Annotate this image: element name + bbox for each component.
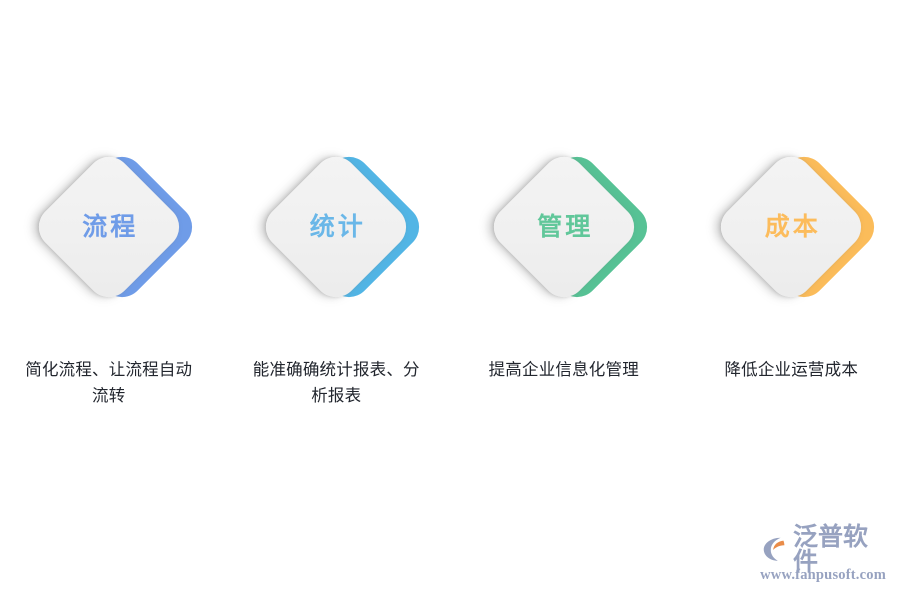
feature-caption: 降低企业运营成本 xyxy=(700,358,882,384)
feature-item-tongji: 统计 能准确确统计报表、分析报表 xyxy=(228,148,446,409)
feature-item-liucheng: 流程 简化流程、让流程自动流转 xyxy=(0,148,218,409)
watermark-brand-row: 泛普软件 xyxy=(760,532,886,566)
watermark: 泛普软件 www.fanpusoft.com xyxy=(760,532,886,588)
diamond-label: 统计 xyxy=(257,148,415,306)
feature-item-guanli: 管理 提高企业信息化管理 xyxy=(455,148,673,384)
feature-caption: 简化流程、让流程自动流转 xyxy=(18,358,200,409)
diamond-label: 流程 xyxy=(30,148,188,306)
watermark-url-text: www.fanpusoft.com xyxy=(760,566,886,584)
diamond-badge: 成本 xyxy=(712,148,870,306)
feature-diamond-row: 流程 简化流程、让流程自动流转 统计 能准确确统计报表、分析报表 管理 提高企业… xyxy=(0,148,900,409)
feature-caption: 提高企业信息化管理 xyxy=(473,358,655,384)
diamond-badge: 管理 xyxy=(485,148,643,306)
diamond-badge: 统计 xyxy=(257,148,415,306)
fanpu-swoosh-logo-icon xyxy=(760,534,790,564)
feature-caption: 能准确确统计报表、分析报表 xyxy=(245,358,427,409)
diamond-label: 管理 xyxy=(485,148,643,306)
diamond-label: 成本 xyxy=(712,148,870,306)
feature-item-chengben: 成本 降低企业运营成本 xyxy=(683,148,900,384)
diamond-badge: 流程 xyxy=(30,148,188,306)
